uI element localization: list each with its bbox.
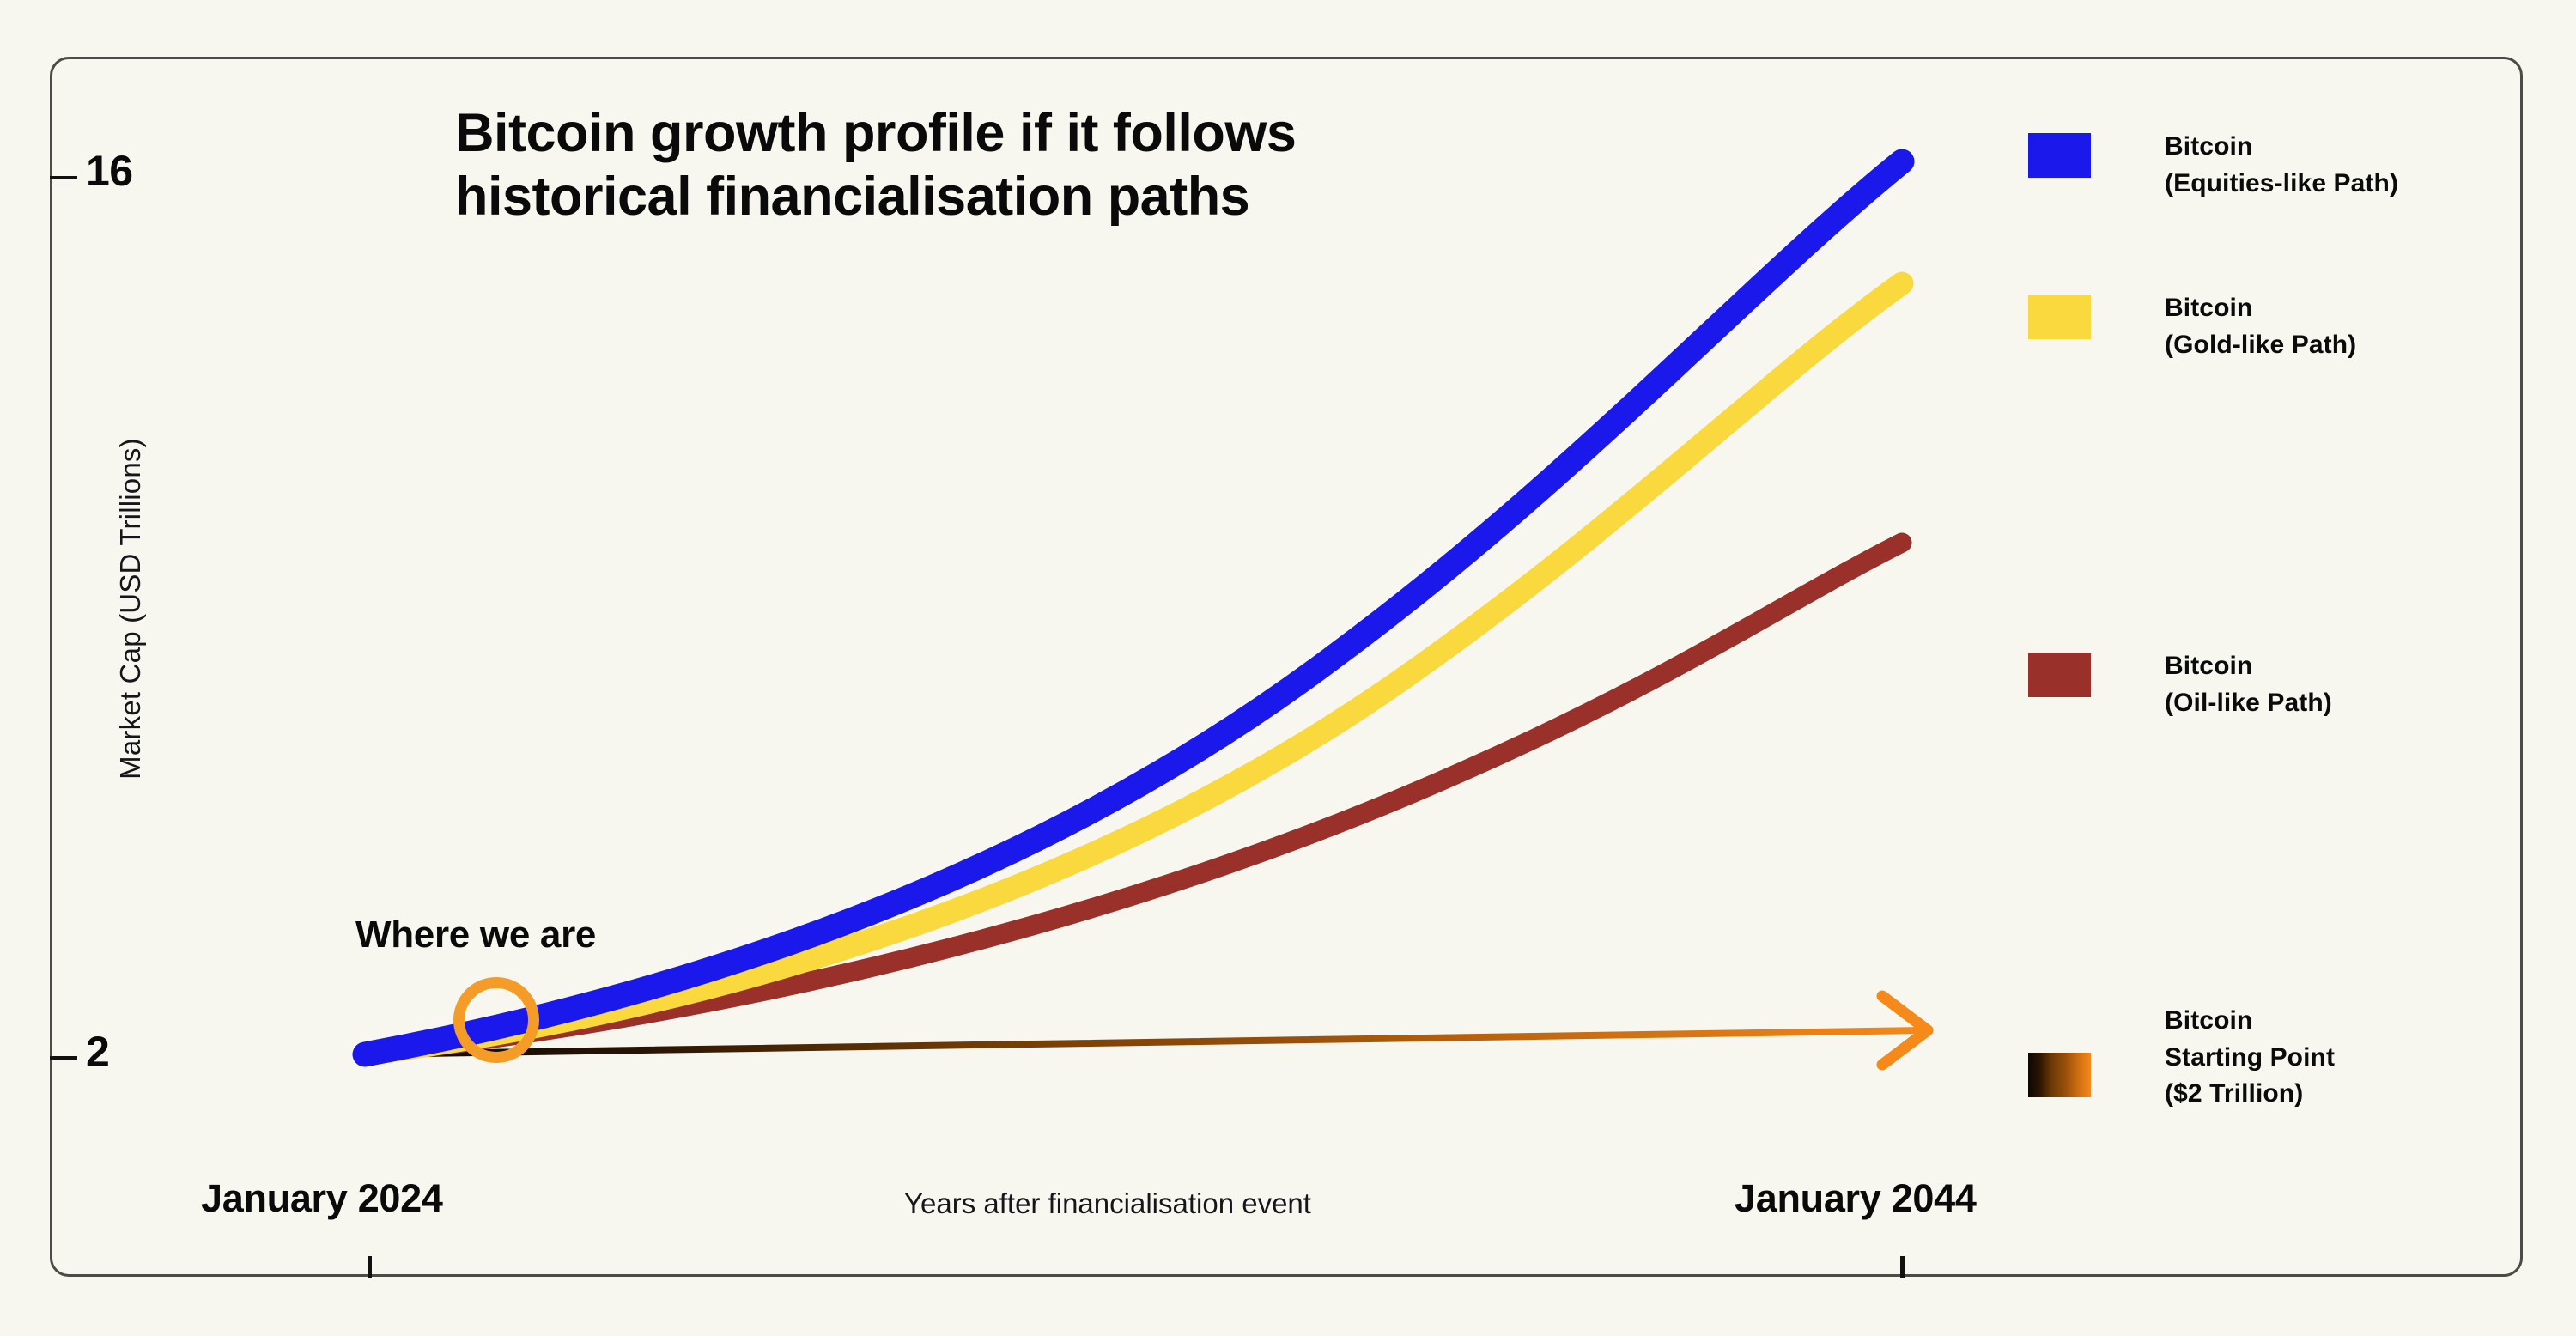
x-axis-label-right: January 2044 bbox=[1735, 1176, 1977, 1221]
y-tick-mark-top bbox=[50, 176, 77, 179]
yellow-swatch-icon bbox=[2028, 295, 2091, 339]
legend-item-gold[interactable]: Bitcoin (Gold-like Path) bbox=[2028, 290, 2356, 363]
x-axis-title: Years after financialisation event bbox=[807, 1187, 1408, 1220]
legend-label-starting-point: Bitcoin Starting Point ($2 Trillion) bbox=[2165, 1003, 2335, 1113]
y-tick-mark-bottom bbox=[50, 1056, 77, 1060]
darkred-swatch-icon bbox=[2028, 653, 2091, 697]
where-we-are-circle-marker bbox=[453, 977, 539, 1063]
x-tick-mark-end bbox=[1900, 1256, 1905, 1278]
y-tick-label-bottom: 2 bbox=[86, 1027, 109, 1077]
legend-label-equities: Bitcoin (Equities-like Path) bbox=[2165, 129, 2398, 202]
legend-label-oil: Bitcoin (Oil-like Path) bbox=[2165, 648, 2332, 721]
legend-item-starting-point[interactable]: Bitcoin Starting Point ($2 Trillion) bbox=[2028, 1003, 2335, 1113]
y-axis-title: Market Cap (USD Trillions) bbox=[114, 386, 147, 832]
legend-item-oil[interactable]: Bitcoin (Oil-like Path) bbox=[2028, 648, 2332, 721]
where-we-are-label: Where we are bbox=[355, 914, 596, 956]
x-axis-label-left: January 2024 bbox=[201, 1176, 443, 1221]
chart-title: Bitcoin growth profile if it follows his… bbox=[455, 101, 1709, 229]
blue-swatch-icon bbox=[2028, 133, 2091, 178]
chart-canvas: Bitcoin growth profile if it follows his… bbox=[0, 0, 2576, 1336]
legend-label-gold: Bitcoin (Gold-like Path) bbox=[2165, 290, 2356, 363]
x-tick-mark-start bbox=[368, 1256, 372, 1278]
gradient-swatch-icon bbox=[2028, 1053, 2091, 1097]
y-tick-label-top: 16 bbox=[86, 146, 133, 196]
legend-item-equities[interactable]: Bitcoin (Equities-like Path) bbox=[2028, 129, 2398, 202]
